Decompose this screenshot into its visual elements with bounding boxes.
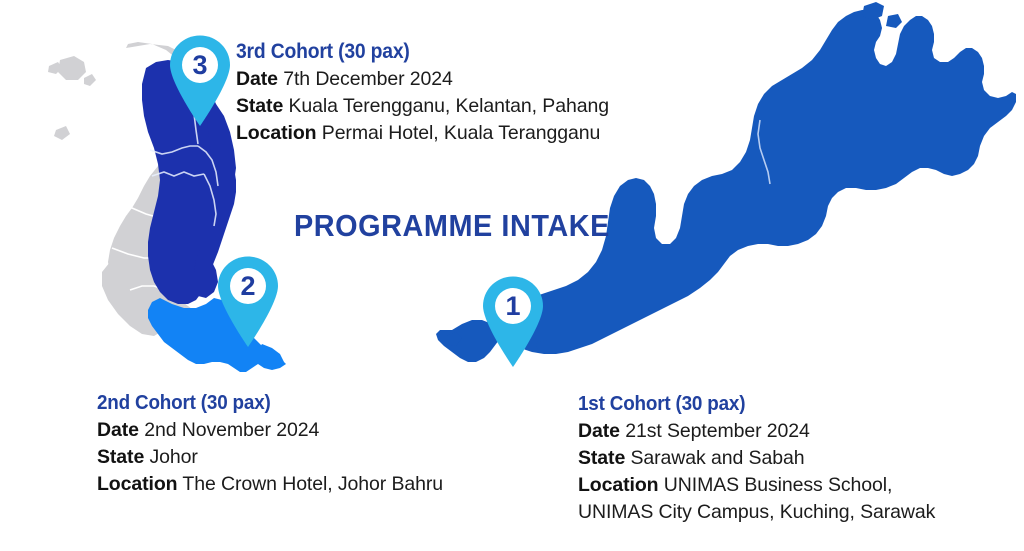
cohort-3-date-label: Date (236, 68, 278, 90)
cohort-2-state-value: Johor (150, 446, 198, 468)
map-pin-2[interactable]: 2 (216, 256, 280, 348)
cohort-1-date-label: Date (578, 420, 620, 442)
map-pin-2-number: 2 (216, 269, 280, 303)
cohort-2-details: 2nd Cohort (30 pax) Date 2nd November 20… (97, 391, 443, 498)
cohort-1-details: 1st Cohort (30 pax) Date 21st September … (578, 392, 935, 526)
cohort-1-state: State Sarawak and Sabah (578, 445, 935, 472)
cohort-2-state: State Johor (97, 444, 443, 471)
cohort-3-location-label: Location (236, 122, 316, 144)
cohort-1-location-value-2: UNIMAS City Campus, Kuching, Sarawak (578, 499, 935, 526)
cohort-2-state-label: State (97, 446, 144, 468)
cohort-1-location-value: UNIMAS Business School, (664, 474, 893, 496)
cohort-3-date: Date 7th December 2024 (236, 66, 609, 93)
cohort-3-state: State Kuala Terengganu, Kelantan, Pahang (236, 93, 609, 120)
cohort-2-location: Location The Crown Hotel, Johor Bahru (97, 471, 443, 498)
cohort-2-date: Date 2nd November 2024 (97, 417, 443, 444)
cohort-1-location: Location UNIMAS Business School, (578, 472, 935, 499)
cohort-2-heading: 2nd Cohort (30 pax) (97, 391, 415, 415)
cohort-3-state-value: Kuala Terengganu, Kelantan, Pahang (289, 95, 609, 117)
cohort-2-date-label: Date (97, 419, 139, 441)
cohort-3-details: 3rd Cohort (30 pax) Date 7th December 20… (236, 40, 609, 147)
cohort-3-location-value: Permai Hotel, Kuala Terangganu (322, 122, 600, 144)
map-pin-1[interactable]: 1 (481, 276, 545, 368)
cohort-2-location-value: The Crown Hotel, Johor Bahru (182, 473, 443, 495)
map-pin-3-number: 3 (168, 48, 232, 82)
cohort-3-date-value: 7th December 2024 (283, 68, 453, 90)
cohort-3-state-label: State (236, 95, 283, 117)
cohort-2-date-value: 2nd November 2024 (144, 419, 319, 441)
cohort-1-state-label: State (578, 447, 625, 469)
cohort-1-state-value: Sarawak and Sabah (631, 447, 805, 469)
cohort-1-date-value: 21st September 2024 (625, 420, 810, 442)
programme-intake-infographic: 3 2 1 PROGRAMME INTAKE 3rd Cohort (30 pa… (0, 0, 1024, 551)
map-pin-3[interactable]: 3 (168, 35, 232, 127)
cohort-1-location-label: Location (578, 474, 658, 496)
cohort-3-location: Location Permai Hotel, Kuala Terangganu (236, 120, 609, 147)
page-title: PROGRAMME INTAKE (294, 208, 610, 244)
cohort-1-date: Date 21st September 2024 (578, 418, 935, 445)
cohort-2-location-label: Location (97, 473, 177, 495)
cohort-1-heading: 1st Cohort (30 pax) (578, 392, 907, 416)
map-pin-1-number: 1 (481, 289, 545, 323)
cohort-3-heading: 3rd Cohort (30 pax) (236, 40, 579, 64)
